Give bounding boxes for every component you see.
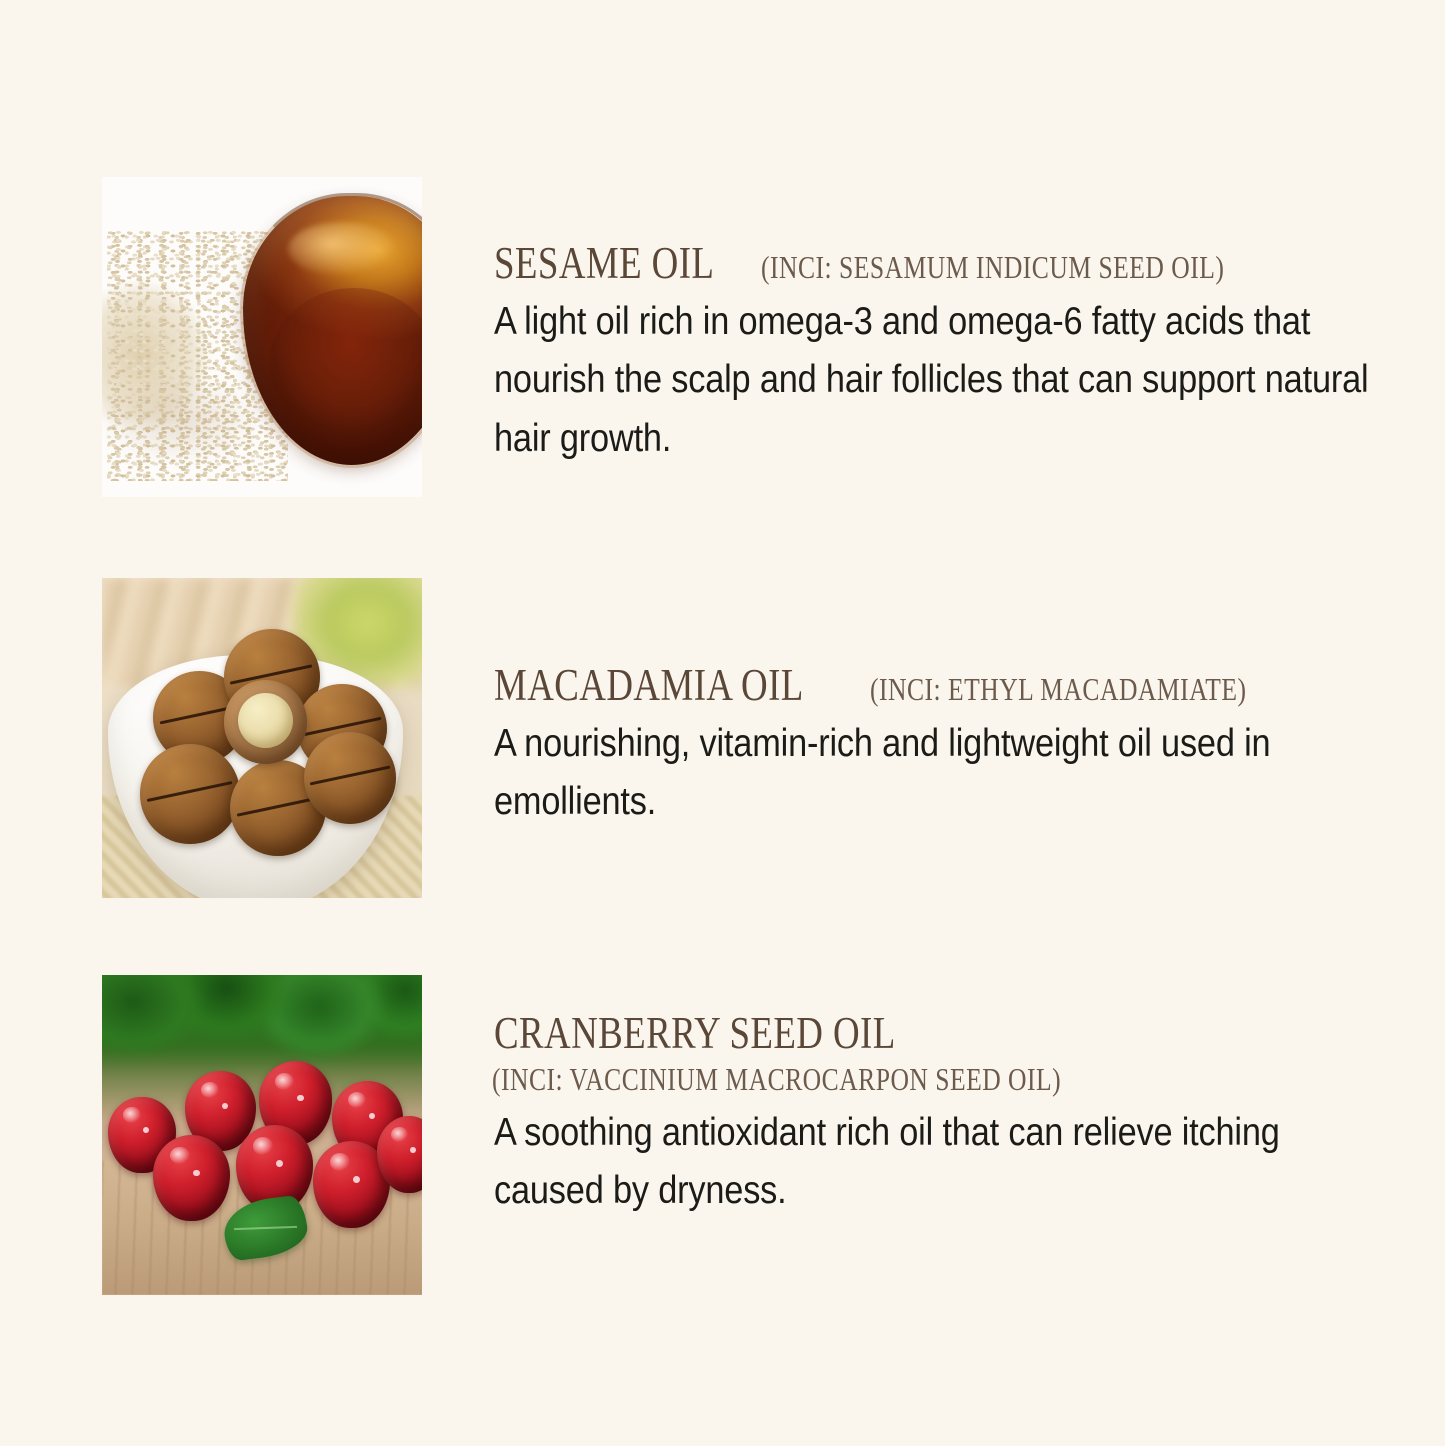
sesame-oil-highlight <box>288 222 397 276</box>
cranberry-seed-oil-title: CRANBERRY SEED OIL <box>494 1010 896 1057</box>
macadamia-oil-description: A nourishing, vitamin-rich and lightweig… <box>494 715 1397 832</box>
macadamia-oil-title: MACADAMIA OIL <box>494 662 804 709</box>
sesame-oil-text-block: SESAME OIL(INCI: SESAMUM INDICUM SEED OI… <box>494 240 1402 468</box>
sesame-oil-title: SESAME OIL <box>494 240 714 287</box>
macadamia-oil-photo <box>102 578 422 898</box>
sesame-oil-inci: (INCI: SESAMUM INDICUM SEED OIL) <box>761 251 1224 284</box>
cranberry-seed-oil-inci: (INCI: VACCINIUM MACROCARPON SEED OIL) <box>492 1061 1220 1098</box>
macadamia-nut-open-kernel <box>224 680 307 763</box>
sesame-oil-description: A light oil rich in omega-3 and omega-6 … <box>494 293 1397 469</box>
ingredient-section-cranberry-seed-oil: CRANBERRY SEED OIL (INCI: VACCINIUM MACR… <box>0 975 1445 1293</box>
cranberry-seed-oil-description: A soothing antioxidant rich oil that can… <box>494 1104 1397 1221</box>
macadamia-oil-inci: (INCI: ETHYL MACADAMIATE) <box>870 673 1247 706</box>
macadamia-nut <box>140 744 239 843</box>
cranberry-seed-oil-photo <box>102 975 422 1295</box>
cranberry-background-leaves <box>102 975 422 1071</box>
ingredient-section-macadamia-oil: MACADAMIA OIL(INCI: ETHYL MACADAMIATE) A… <box>0 578 1445 898</box>
macadamia-nut <box>304 732 397 825</box>
ingredient-benefits-page: SESAME OIL(INCI: SESAMUM INDICUM SEED OI… <box>0 0 1445 1446</box>
sesame-oil-photo <box>102 177 422 497</box>
ingredient-section-sesame-oil: SESAME OIL(INCI: SESAMUM INDICUM SEED OI… <box>0 177 1445 497</box>
macadamia-oil-heading-line: MACADAMIA OIL(INCI: ETHYL MACADAMIATE) <box>494 662 1402 709</box>
sesame-seeds-shadow <box>102 375 262 465</box>
macadamia-oil-text-block: MACADAMIA OIL(INCI: ETHYL MACADAMIATE) A… <box>494 662 1402 832</box>
cranberry-seed-oil-text-block: CRANBERRY SEED OIL (INCI: VACCINIUM MACR… <box>494 1010 1402 1221</box>
sesame-oil-heading-line: SESAME OIL(INCI: SESAMUM INDICUM SEED OI… <box>494 240 1402 287</box>
cranberry-seed-oil-heading-line: CRANBERRY SEED OIL <box>494 1010 1402 1057</box>
